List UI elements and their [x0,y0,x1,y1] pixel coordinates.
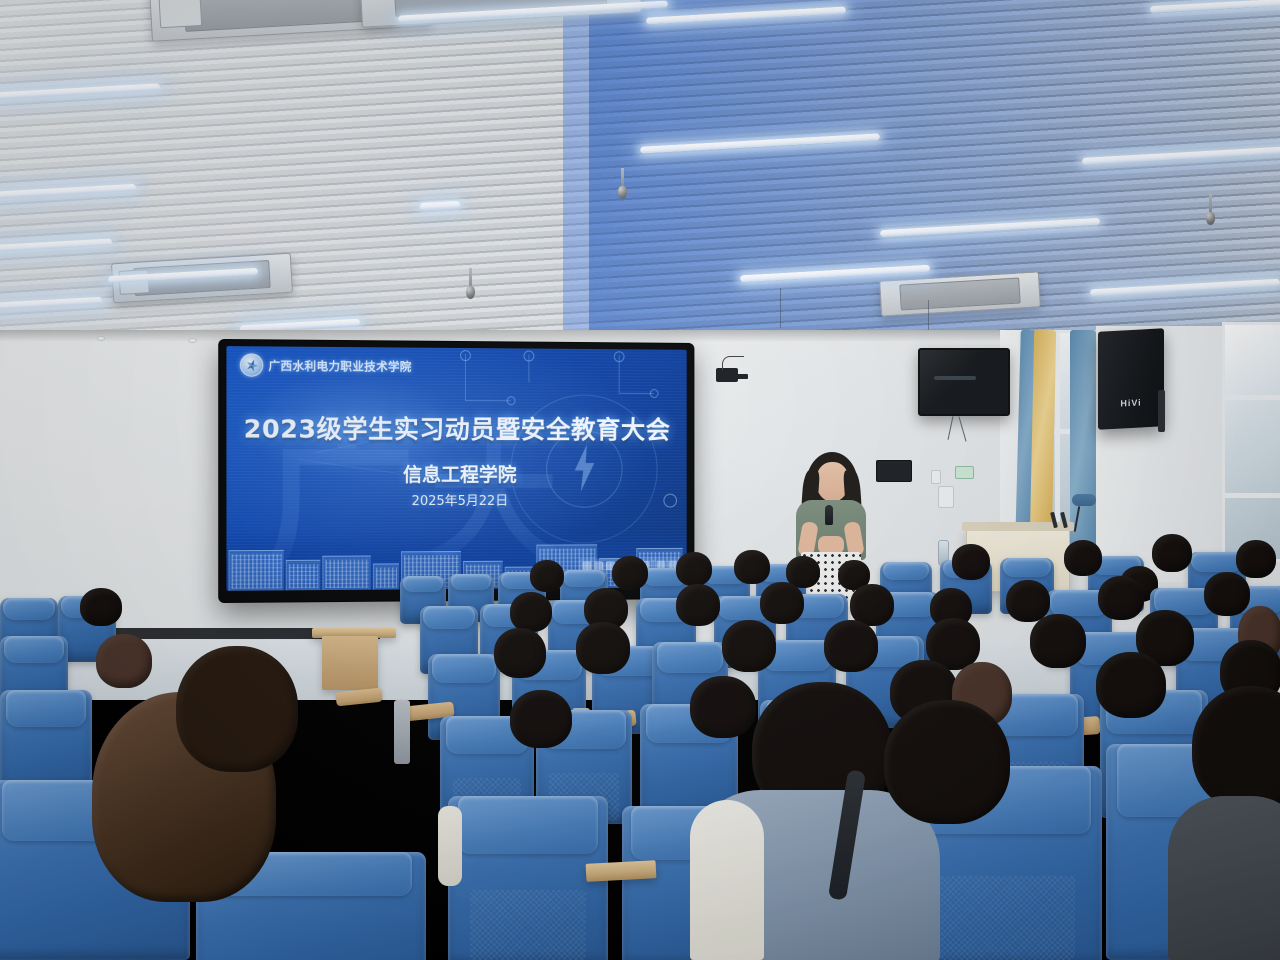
ac-grille [899,278,1020,311]
hivi-loudspeaker: HiVi [1098,328,1164,429]
wall-panel [938,486,954,508]
seat-headrest [451,574,492,590]
slide-subtitle: 信息工程学院 [226,460,686,487]
audience-head [612,556,648,590]
speaker-mount-arm [1158,390,1165,432]
row-desk-edge [586,860,657,882]
skyline-building [286,560,321,591]
audience-head [1006,580,1050,622]
curtain-yellow [1030,330,1056,542]
wall-camera [716,368,738,382]
sprinkler-head [466,268,474,286]
camera-cable [722,356,744,370]
sprinkler-head [618,168,626,186]
audience-head [1098,576,1144,620]
ceiling-smoke-detector [188,338,197,343]
ceiling-wire [780,288,781,328]
circuit-line [465,400,511,401]
toolbar-icon-laser[interactable] [594,561,603,570]
handheld-microphone [825,505,833,525]
seat-headrest [458,796,599,854]
circuit-node [650,389,659,398]
school-emblem-icon [240,353,264,376]
slide-corner-badge [663,494,677,508]
wall-panel [931,470,941,484]
toolbar-icon-pen[interactable] [583,561,592,570]
curtain-tieback [1072,494,1096,506]
seat-headrest [657,642,724,673]
seat-headrest [432,654,495,683]
seat-headrest [4,636,64,663]
circuit-line [619,393,654,394]
seat-headrest [883,562,929,580]
audience-head-foreground [884,700,1010,824]
skyline-building [229,550,284,591]
screen-surface: 广 大 广西水利电力职业技术学院 20 [226,346,686,591]
seat-support [394,700,410,764]
ceiling-wire [928,300,929,334]
window-mullion [1225,493,1280,498]
audience-head [1204,572,1250,616]
audience-head [494,628,546,678]
circuit-node [460,350,471,361]
audience-head [676,584,720,626]
slide-title: 2023级学生实习动员暨安全教育大会 [226,409,686,446]
audience-head [576,622,630,674]
sprinkler-bulb [466,286,475,299]
seat-mesh-pocket [939,876,1076,960]
window-mullion [1225,395,1280,400]
audience-head [1152,534,1192,572]
ceiling-left-lighting [0,0,614,336]
audience-head [722,620,776,672]
seat-headrest [1191,552,1242,572]
audience-head [676,552,712,586]
monitor-bezel-detail [934,376,976,380]
seat-mesh-pocket [470,890,585,960]
audience-head [510,592,552,632]
audience-head [1236,540,1276,578]
audience-head [760,582,804,624]
audience-head [690,676,756,738]
seat-headrest [1003,558,1051,577]
audience-head [1064,540,1102,576]
sprinkler-stem [621,168,624,186]
audience-head [1096,652,1166,718]
seat-headrest [6,690,87,727]
institution-logo: 广西水利电力职业技术学院 [240,353,412,377]
audience-head [952,544,990,580]
sprinkler-stem [1209,194,1212,212]
slide-date: 2025年5月22日 [226,490,686,510]
audience-shoulders [1168,796,1280,960]
skyline-building [373,563,399,589]
seat-headrest [3,598,54,620]
circuit-node [523,350,534,361]
monitor-glare [920,350,1008,414]
seat-headrest [403,576,444,592]
audience-shoulders [690,800,764,960]
audience-head [1030,614,1086,668]
seat-headrest [563,570,605,587]
audience-shoulders [438,806,462,886]
sprinkler-bulb [1206,212,1215,225]
audience-head [824,620,878,672]
slatted-ceiling [0,0,1280,336]
window-glass [1225,325,1280,559]
audience-head [530,560,564,592]
sprinkler-bulb [618,186,627,199]
circuit-node [614,351,625,362]
audience-head [80,588,122,626]
audience-head [510,690,572,748]
ceiling-smoke-detector [97,336,105,341]
seat-headrest [423,606,474,629]
lecture-hall-photo: HiVi 广 大 [0,0,1280,960]
wall-exit-sign [955,466,974,479]
wall-small-display [876,460,912,482]
skyline-building [322,555,371,590]
wall-camera-lens [736,374,748,379]
institution-name: 广西水利电力职业技术学院 [268,357,411,374]
side-table-leg [322,636,378,690]
ac-vane [158,0,202,28]
audience-head [734,550,770,584]
sprinkler-head [1206,194,1214,212]
seat[interactable] [448,796,608,960]
sprinkler-stem [469,268,472,286]
audience-head-foreground [176,646,298,772]
window-right-pane [1222,322,1280,562]
hivi-brand-label: HiVi [1120,398,1141,409]
circuit-node [507,396,516,405]
wall-display-monitor[interactable] [918,348,1010,416]
audience-head [96,634,152,688]
